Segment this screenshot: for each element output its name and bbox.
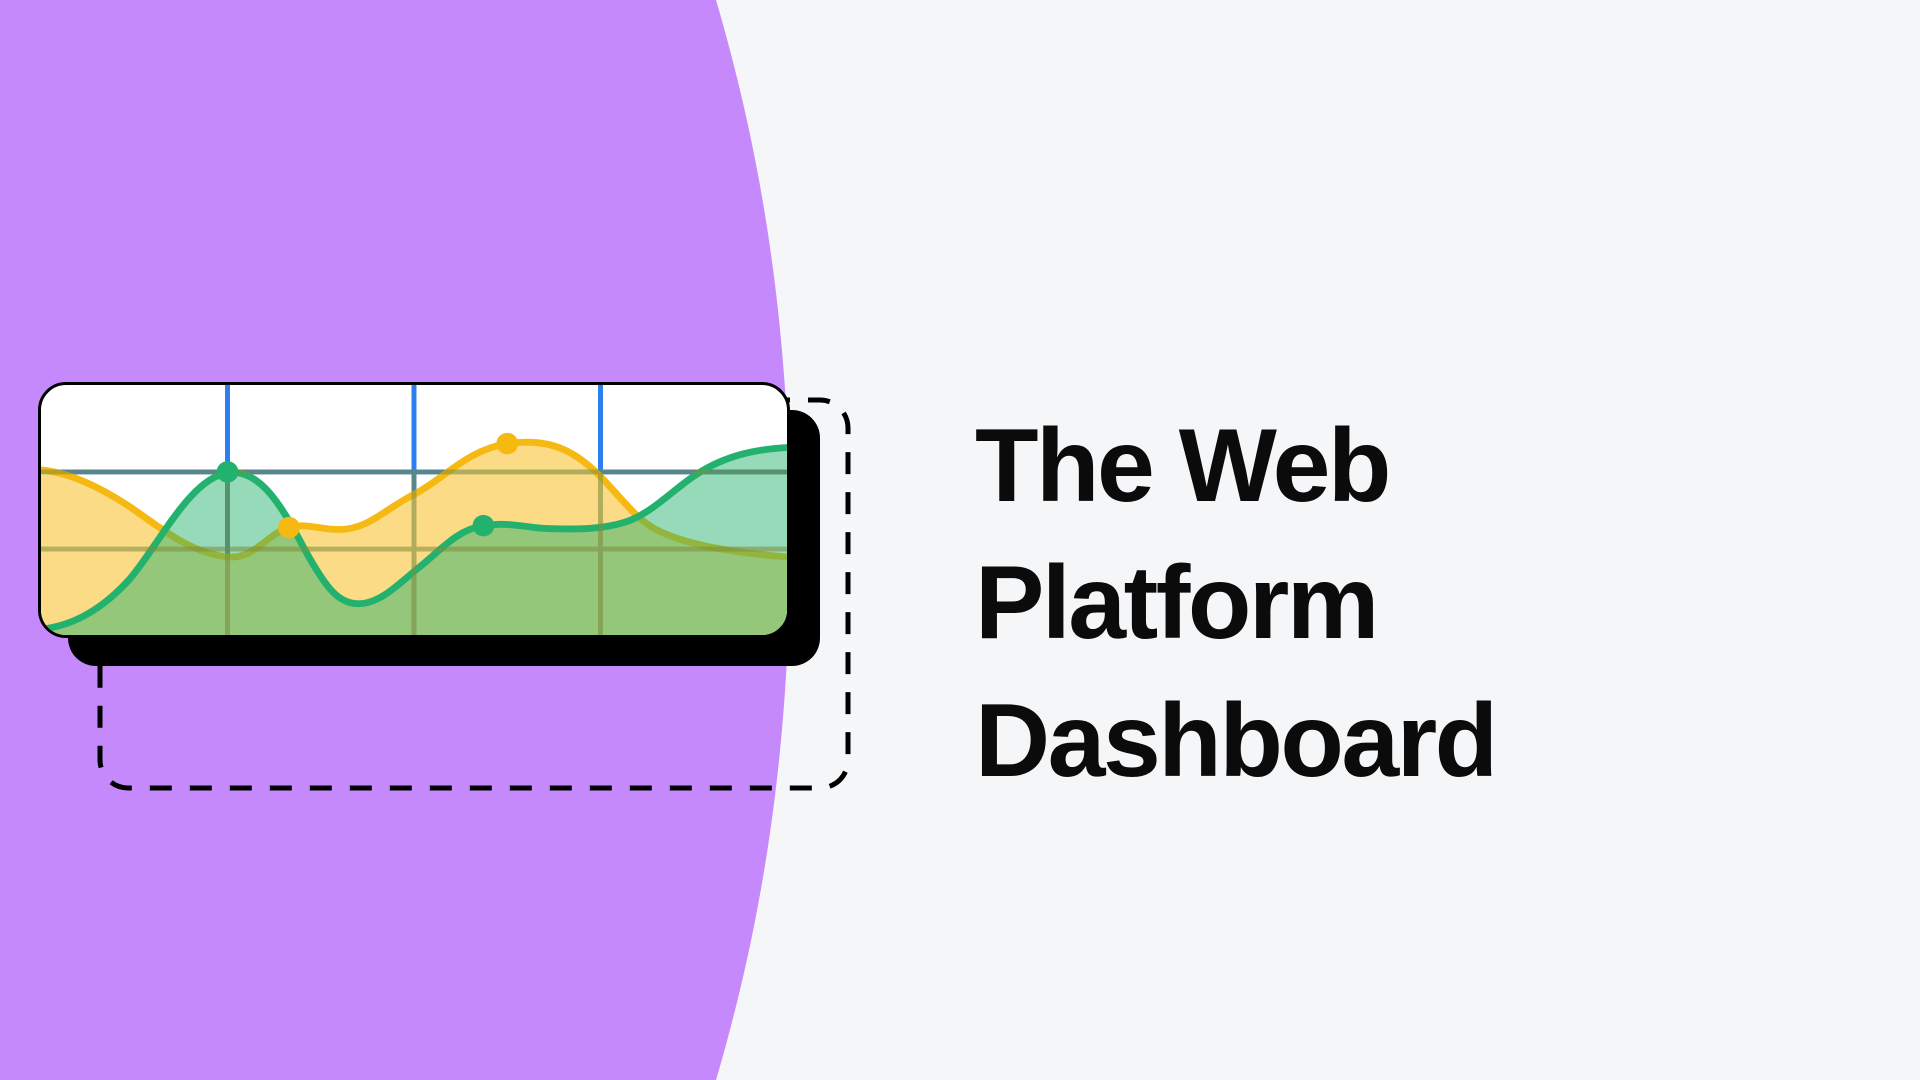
area-chart[interactable] bbox=[41, 385, 787, 635]
data-point-yellow-2[interactable] bbox=[496, 433, 518, 454]
data-point-green-1[interactable] bbox=[217, 461, 239, 482]
data-point-yellow-1[interactable] bbox=[278, 517, 300, 538]
chart-card[interactable] bbox=[38, 382, 790, 638]
page-title: The Web Platform Dashboard bbox=[975, 398, 1755, 810]
page-root: The Web Platform Dashboard bbox=[0, 0, 1920, 1080]
data-point-green-2[interactable] bbox=[473, 515, 495, 536]
